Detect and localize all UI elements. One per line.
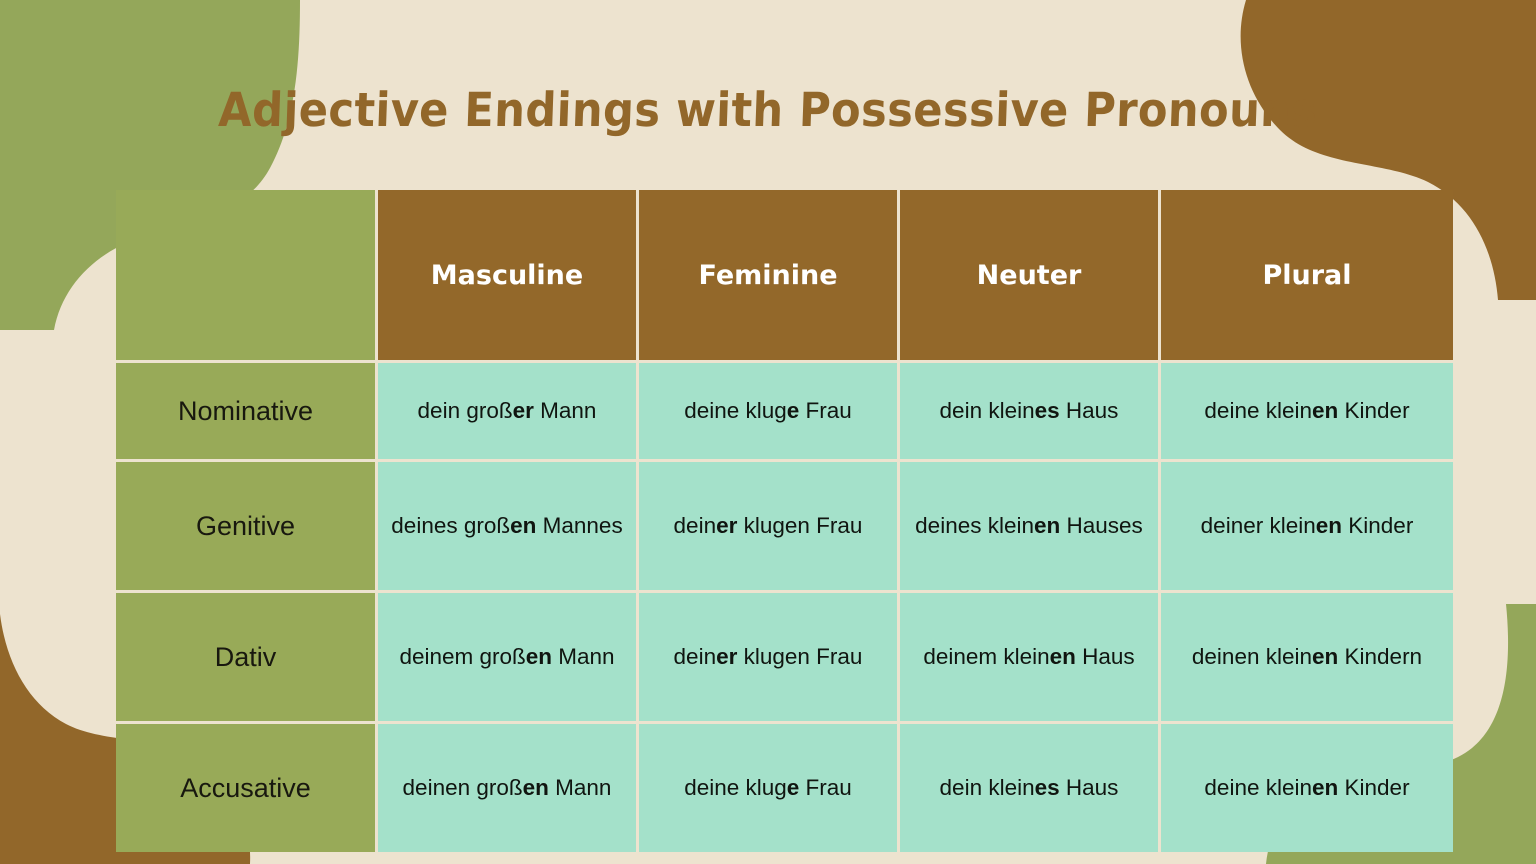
column-header-masculine: Masculine — [378, 190, 636, 360]
cell-accusative-masculine: deinen großen Mann — [378, 724, 636, 852]
cell-dativ-masculine: deinem großen Mann — [378, 593, 636, 721]
adjective-endings-table: Masculine Feminine Neuter Plural Nominat… — [113, 187, 1456, 855]
row-label-genitive: Genitive — [116, 462, 375, 590]
cell-dativ-neuter: deinem kleinen Haus — [900, 593, 1158, 721]
poster-canvas: Adjective Endings with Possessive Pronou… — [0, 0, 1536, 864]
cell-genitive-feminine: deiner klugen Frau — [639, 462, 897, 590]
table-row: Dativ deinem großen Mann deiner klugen F… — [116, 593, 1453, 721]
table-row: Genitive deines großen Mannes deiner klu… — [116, 462, 1453, 590]
table-header-row: Masculine Feminine Neuter Plural — [116, 190, 1453, 360]
cell-nominative-masculine: dein großer Mann — [378, 363, 636, 459]
table-corner-cell — [116, 190, 375, 360]
page-title: Adjective Endings with Possessive Pronou… — [60, 83, 1475, 138]
table-row: Accusative deinen großen Mann deine klug… — [116, 724, 1453, 852]
cell-dativ-plural: deinen kleinen Kindern — [1161, 593, 1453, 721]
column-header-plural: Plural — [1161, 190, 1453, 360]
cell-accusative-neuter: dein kleines Haus — [900, 724, 1158, 852]
cell-dativ-feminine: deiner klugen Frau — [639, 593, 897, 721]
row-label-accusative: Accusative — [116, 724, 375, 852]
column-header-feminine: Feminine — [639, 190, 897, 360]
cell-genitive-masculine: deines großen Mannes — [378, 462, 636, 590]
cell-nominative-neuter: dein kleines Haus — [900, 363, 1158, 459]
cell-nominative-feminine: deine kluge Frau — [639, 363, 897, 459]
row-label-nominative: Nominative — [116, 363, 375, 459]
column-header-neuter: Neuter — [900, 190, 1158, 360]
grammar-table-container: Masculine Feminine Neuter Plural Nominat… — [113, 187, 1445, 855]
cell-nominative-plural: deine kleinen Kinder — [1161, 363, 1453, 459]
cell-genitive-neuter: deines kleinen Hauses — [900, 462, 1158, 590]
cell-accusative-feminine: deine kluge Frau — [639, 724, 897, 852]
cell-genitive-plural: deiner kleinen Kinder — [1161, 462, 1453, 590]
row-label-dativ: Dativ — [116, 593, 375, 721]
cell-accusative-plural: deine kleinen Kinder — [1161, 724, 1453, 852]
table-row: Nominative dein großer Mann deine kluge … — [116, 363, 1453, 459]
